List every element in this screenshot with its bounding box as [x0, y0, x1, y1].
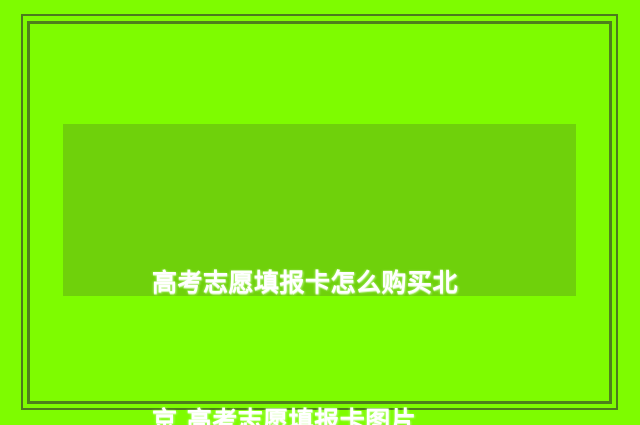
headline-line-2: 京 高考志愿填报卡图片 [152, 398, 492, 425]
image-canvas: 高考志愿填报卡怎么购买北 京 高考志愿填报卡图片 [0, 0, 640, 425]
headline-text: 高考志愿填报卡怎么购买北 京 高考志愿填报卡图片 [152, 168, 492, 425]
headline-line-1: 高考志愿填报卡怎么购买北 [152, 260, 492, 306]
